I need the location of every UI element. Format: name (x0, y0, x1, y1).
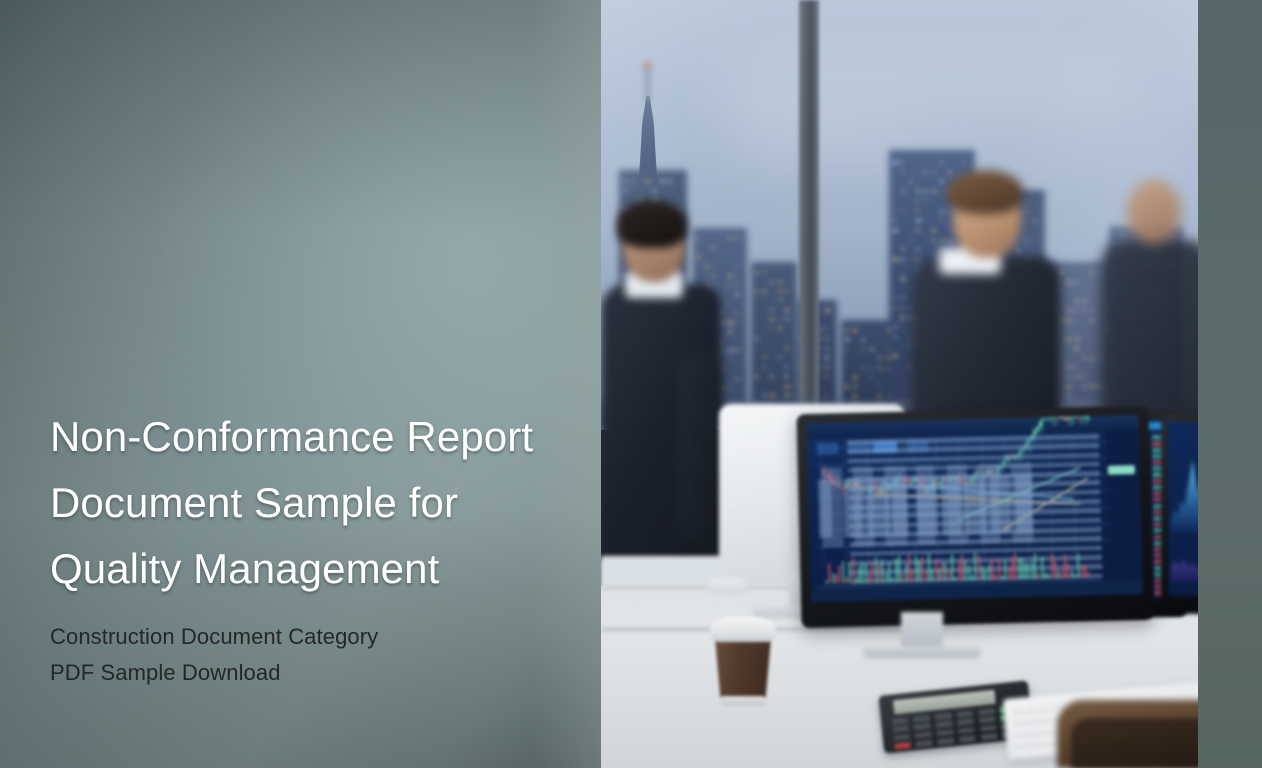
page-subtitle: Construction Document Category PDF Sampl… (50, 602, 590, 691)
cover-slide: Non-Conformance Report Document Sample f… (0, 0, 1262, 768)
coffee-cup (715, 620, 771, 706)
title-line-1: Non-Conformance Report (50, 404, 590, 470)
monitor-base (863, 646, 981, 658)
mouse (707, 578, 747, 594)
office-photo (601, 0, 1199, 768)
subtitle-category: Construction Document Category (50, 619, 590, 655)
title-line-2: Document Sample for (50, 470, 590, 536)
right-accent-bar (1198, 0, 1262, 768)
subtitle-download: PDF Sample Download (50, 655, 590, 691)
page-title: Non-Conformance Report Document Sample f… (50, 404, 590, 602)
cover-text-block: Non-Conformance Report Document Sample f… (50, 404, 590, 691)
office-chair-seat (1071, 718, 1199, 768)
trading-monitor (796, 406, 1153, 629)
person-background (1101, 170, 1199, 430)
third-monitor (1161, 414, 1199, 614)
title-line-3: Quality Management (50, 536, 590, 602)
